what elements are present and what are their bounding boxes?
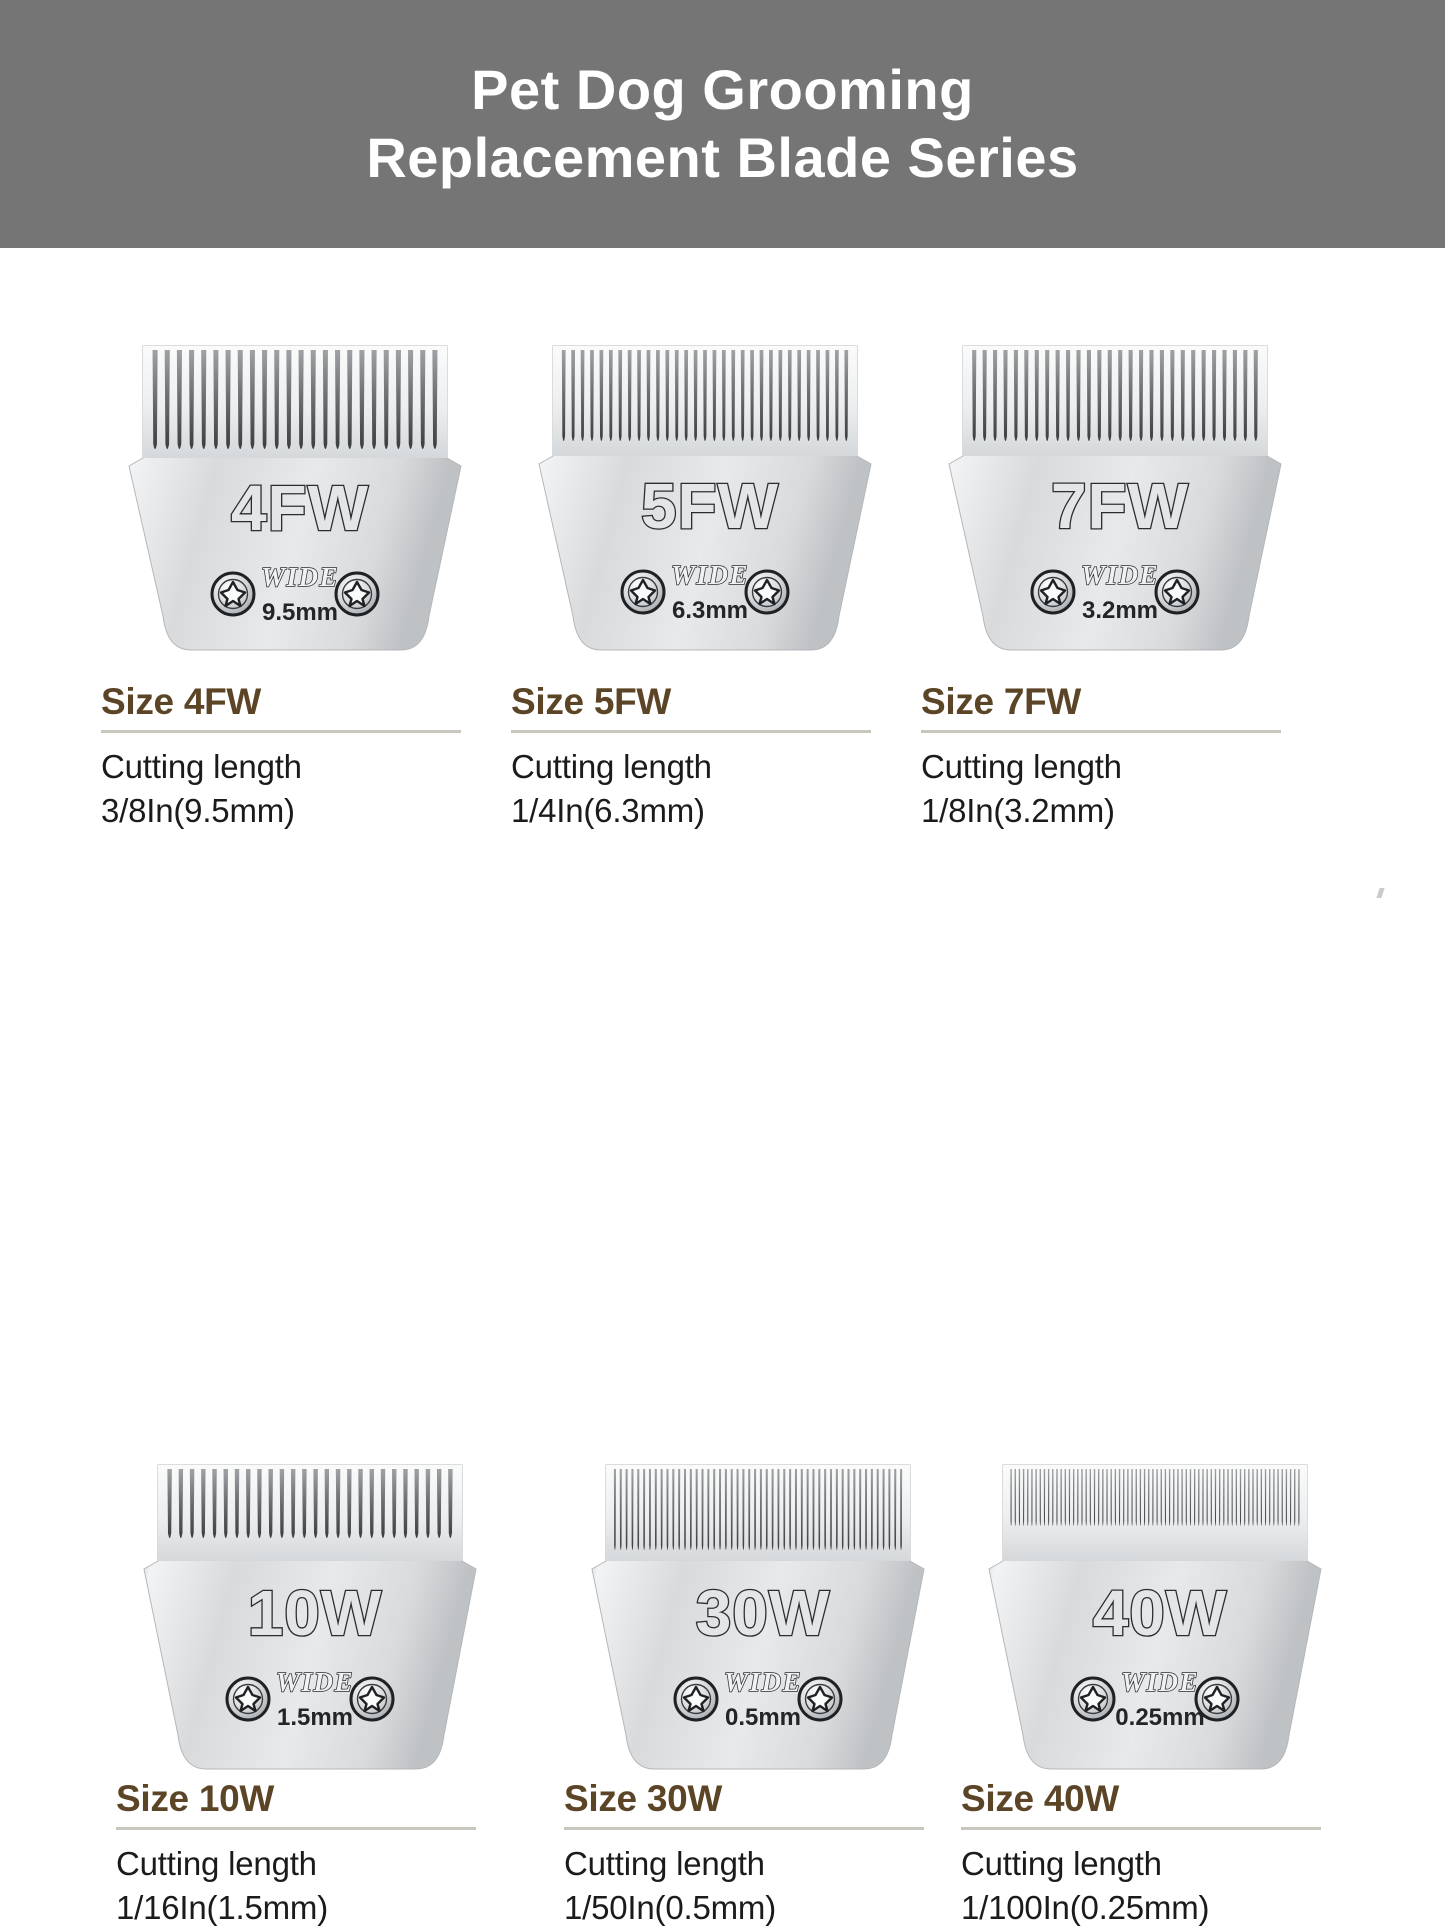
blade-screw-right [1156,571,1198,613]
size-title: Size 30W [564,1777,964,1821]
blade-mm-stamp: 0.5mm [725,1704,801,1731]
blade-caption-40w: Size 40W Cutting length 1/100In(0.25mm) [961,1777,1361,1930]
blade-card-5fw[interactable]: 5FW WIDE 6.3mm Size 5FW Cutting length 1… [495,248,915,802]
blade-screw-right [336,573,378,615]
header-banner: Pet Dog Grooming Replacement Blade Serie… [0,0,1445,248]
size-title: Size 5FW [511,680,911,724]
blade-wide-stamp: WIDE [261,562,339,592]
blade-card-10w[interactable]: 10W WIDE 1.5mm Size 10W Cutting length 1… [100,802,520,1356]
blade-illustration-5fw: 5FW WIDE 6.3mm [495,338,915,658]
blade-screw-left [1032,571,1074,613]
blade-size-stamp: 40W [1093,1577,1228,1649]
title-underline [511,730,871,733]
blade-caption-30w: Size 30W Cutting length 1/50In(0.5mm) [564,1777,964,1930]
blade-wide-stamp: WIDE [671,560,749,590]
blade-screw-right [351,1678,393,1720]
blade-mm-stamp: 6.3mm [672,597,748,624]
size-title: Size 7FW [921,680,1321,724]
cutting-length-label: Cutting length [921,745,1321,789]
blade-card-30w[interactable]: 30W WIDE 0.5mm Size 30W Cutting length 1… [548,802,968,1356]
cutting-length-value: 1/50In(0.5mm) [564,1886,964,1930]
size-title: Size 10W [116,1777,516,1821]
blade-grid: 4FW WIDE 9.5mm Size 4FW Cutting length 3… [0,248,1445,1356]
blade-row-top: 4FW WIDE 9.5mm Size 4FW Cutting length 3… [0,248,1445,802]
blade-illustration-10w: 10W WIDE 1.5mm [100,1457,520,1777]
blade-illustration-30w: 30W WIDE 0.5mm [548,1457,968,1777]
blade-size-stamp: 4FW [231,472,369,544]
blade-illustration-40w: 40W WIDE 0.25mm [945,1457,1365,1777]
blade-illustration-4fw: 4FW WIDE 9.5mm [85,338,505,658]
blade-size-stamp: 30W [696,1577,831,1649]
blade-screw-right [1196,1678,1238,1720]
blade-size-stamp: 7FW [1051,470,1189,542]
cutting-length-label: Cutting length [961,1842,1361,1886]
blade-screw-right [799,1678,841,1720]
blade-screw-right [746,571,788,613]
blade-image-4fw: 4FW WIDE 9.5mm [85,338,505,658]
cutting-length-label: Cutting length [564,1842,964,1886]
title-underline [116,1827,476,1830]
blade-image-10w: 10W WIDE 1.5mm [100,1457,520,1777]
blade-mm-stamp: 3.2mm [1082,597,1158,624]
size-title: Size 40W [961,1777,1361,1821]
blade-screw-left [675,1678,717,1720]
blade-size-stamp: 5FW [641,470,779,542]
title-underline [961,1827,1321,1830]
blade-card-4fw[interactable]: 4FW WIDE 9.5mm Size 4FW Cutting length 3… [85,248,505,802]
blade-wide-stamp: WIDE [1081,560,1159,590]
blade-card-7fw[interactable]: 7FW WIDE 3.2mm Size 7FW Cutting length 1… [905,248,1325,802]
cutting-length-value: 1/100In(0.25mm) [961,1886,1361,1930]
blade-screw-left [622,571,664,613]
title-underline [921,730,1281,733]
blade-mm-stamp: 9.5mm [262,599,338,626]
blade-image-30w: 30W WIDE 0.5mm [548,1457,968,1777]
title-underline [564,1827,924,1830]
cutting-length-value: 1/16In(1.5mm) [116,1886,516,1930]
blade-wide-stamp: WIDE [724,1667,802,1697]
blade-illustration-7fw: 7FW WIDE 3.2mm [905,338,1325,658]
title-underline [101,730,461,733]
blade-row-bottom: 10W WIDE 1.5mm Size 10W Cutting length 1… [0,802,1445,1356]
blade-image-40w: 40W WIDE 0.25mm [945,1457,1365,1777]
blade-card-40w[interactable]: 40W WIDE 0.25mm Size 40W Cutting length … [945,802,1365,1356]
page-title-line-2: Replacement Blade Series [366,124,1078,192]
cutting-length-label: Cutting length [101,745,501,789]
blade-caption-10w: Size 10W Cutting length 1/16In(1.5mm) [116,1777,516,1930]
blade-mm-stamp: 1.5mm [277,1704,353,1731]
blade-wide-stamp: WIDE [276,1667,354,1697]
blade-screw-left [212,573,254,615]
blade-image-7fw: 7FW WIDE 3.2mm [905,338,1325,658]
blade-screw-left [1072,1678,1114,1720]
cutting-length-label: Cutting length [511,745,911,789]
cutting-length-label: Cutting length [116,1842,516,1886]
blade-screw-left [227,1678,269,1720]
blade-wide-stamp: WIDE [1121,1667,1199,1697]
blade-mm-stamp: 0.25mm [1115,1704,1204,1731]
page-title-line-1: Pet Dog Grooming [471,56,974,124]
size-title: Size 4FW [101,680,501,724]
blade-size-stamp: 10W [248,1577,383,1649]
blade-image-5fw: 5FW WIDE 6.3mm [495,338,915,658]
